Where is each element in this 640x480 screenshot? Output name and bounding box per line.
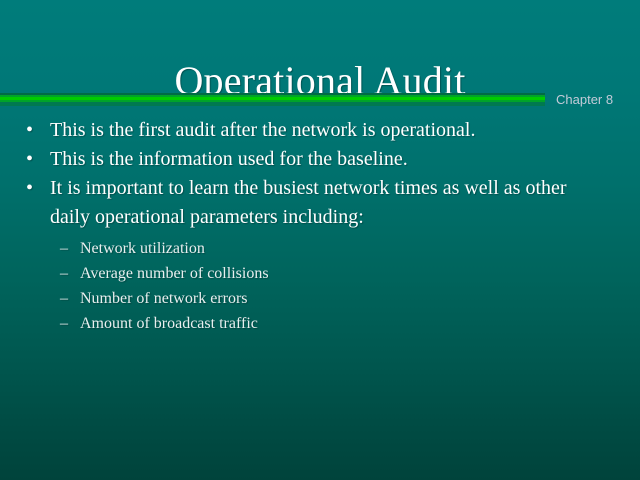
bullet-marker-dot: •	[26, 145, 40, 174]
sub-bullet-text: Amount of broadcast traffic	[80, 311, 592, 336]
divider-band-dark-bottom	[0, 102, 545, 106]
sub-bullet-marker-dash: –	[60, 286, 76, 311]
sub-bullet-text: Number of network errors	[80, 286, 592, 311]
sub-bullet-item: – Average number of collisions	[0, 261, 592, 286]
sub-bullet-item: – Amount of broadcast traffic	[0, 311, 592, 336]
sub-bullet-text: Network utilization	[80, 236, 592, 261]
title-divider-bar	[0, 93, 545, 106]
chapter-label: Chapter 8	[556, 92, 613, 108]
bullet-item: • This is the first audit after the netw…	[0, 116, 592, 145]
sub-bullet-item: – Number of network errors	[0, 286, 592, 311]
sub-bullet-marker-dash: –	[60, 236, 76, 261]
sub-bullet-item: – Network utilization	[0, 236, 592, 261]
bullet-text: This is the information used for the bas…	[50, 145, 592, 174]
sub-bullet-marker-dash: –	[60, 261, 76, 286]
sub-bullet-text: Average number of collisions	[80, 261, 592, 286]
presentation-slide: Operational Audit Chapter 8 • This is th…	[0, 0, 640, 480]
bullet-marker-dot: •	[26, 174, 40, 203]
bullet-item: • This is the information used for the b…	[0, 145, 592, 174]
bullet-text: This is the first audit after the networ…	[50, 116, 592, 145]
sub-bullet-marker-dash: –	[60, 311, 76, 336]
bullet-item: • It is important to learn the busiest n…	[0, 174, 592, 232]
sub-bullet-list: – Network utilization – Average number o…	[0, 236, 640, 336]
bullet-marker-dot: •	[26, 116, 40, 145]
bullet-text: It is important to learn the busiest net…	[50, 174, 592, 232]
slide-body: • This is the first audit after the netw…	[0, 116, 640, 336]
